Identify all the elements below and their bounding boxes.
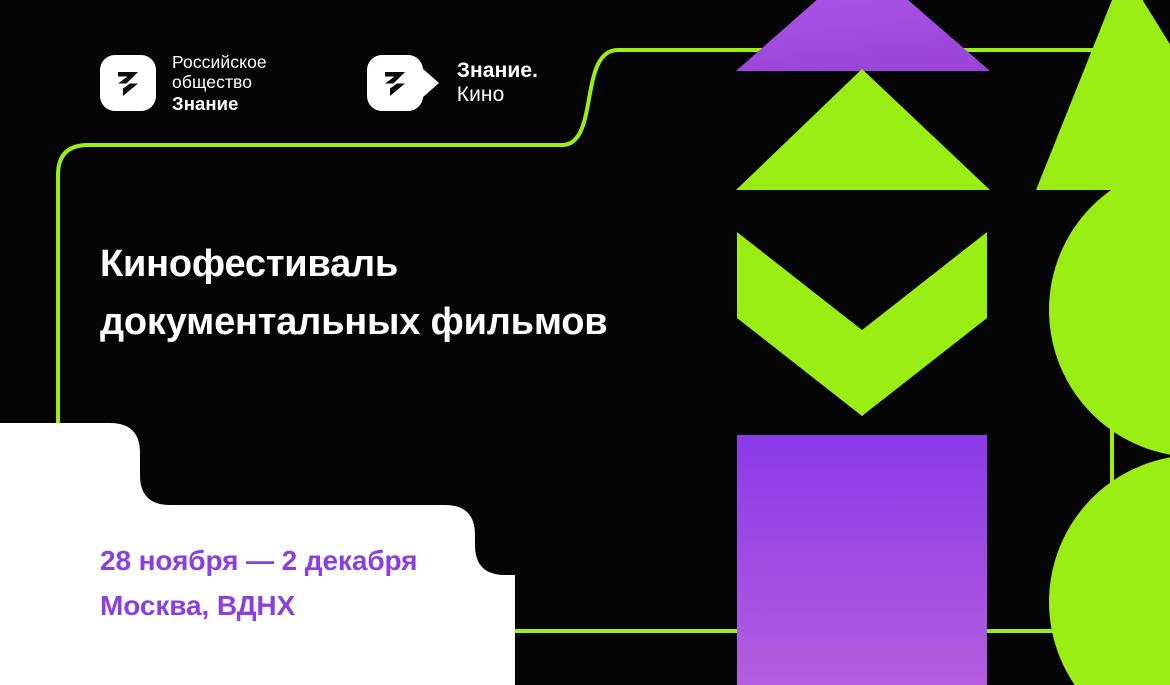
logo-text-kino: Знание. Кино [457, 59, 538, 108]
znanie-kino-camera-icon [367, 55, 439, 111]
event-dates: 28 ноября — 2 декабря [100, 538, 417, 583]
logo-kino-line-1: Знание. [457, 59, 538, 83]
camera-lens-icon [422, 68, 439, 98]
page-title: Кинофестиваль документальных фильмов [100, 236, 607, 352]
camera-body-icon [367, 55, 423, 111]
logo-line-2: общество [172, 72, 267, 92]
headline-line-1: Кинофестиваль [100, 236, 607, 294]
poster-canvas: Российское общество Знание Знание. Кино [0, 0, 1170, 685]
logo-kino-line-2: Кино [457, 83, 538, 107]
logo-line-1: Российское [172, 52, 267, 72]
headline-line-2: документальных фильмов [100, 294, 607, 352]
event-location: Москва, ВДНХ [100, 583, 417, 628]
logo-znanie-kino[interactable]: Знание. Кино [367, 55, 538, 111]
logo-rossiyskoe-obshchestvo-znanie[interactable]: Российское общество Знание [100, 52, 267, 114]
logo-line-3: Знание [172, 93, 267, 114]
znanie-z-mark-icon [100, 55, 156, 111]
event-details: 28 ноября — 2 декабря Москва, ВДНХ [100, 538, 417, 629]
purple-gradient-square [737, 435, 987, 685]
logo-row: Российское общество Знание Знание. Кино [100, 52, 538, 114]
logo-text-znanie: Российское общество Знание [172, 52, 267, 114]
